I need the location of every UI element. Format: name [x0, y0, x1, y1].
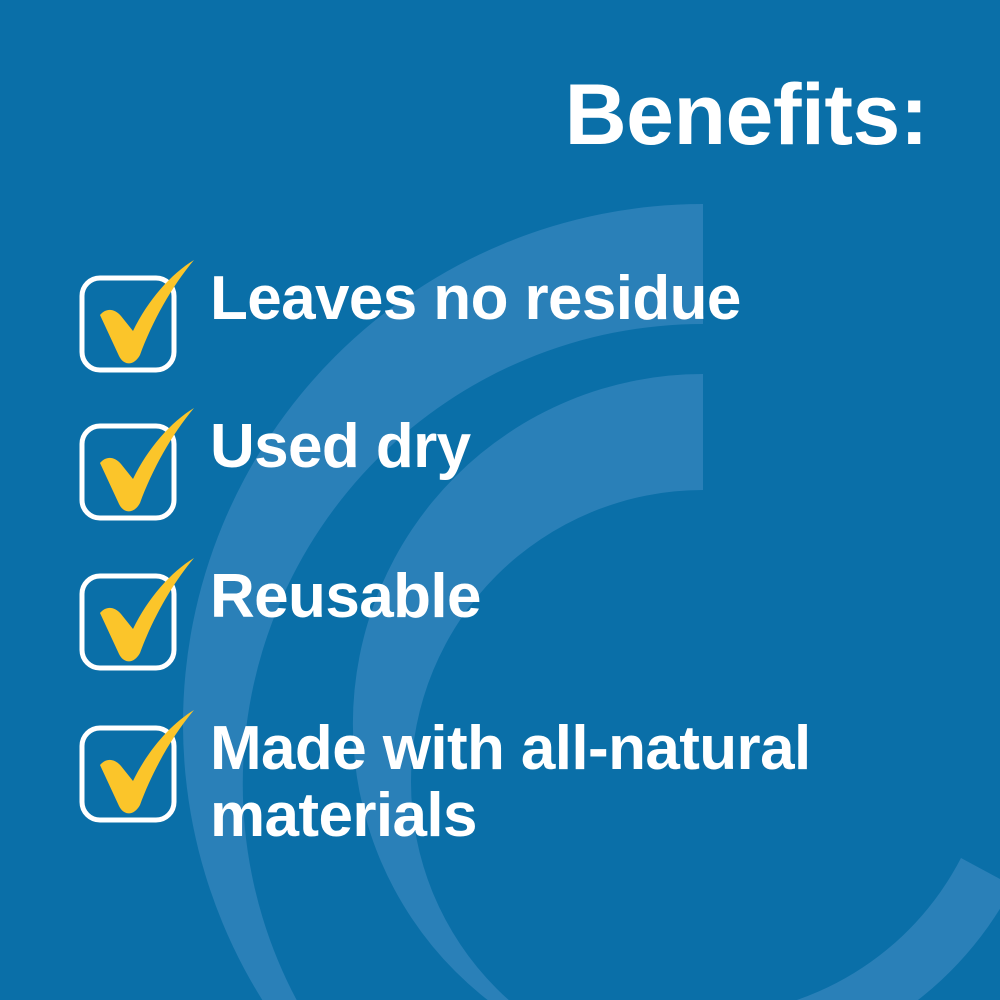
benefits-list: Leaves no residue Used dry Reusable	[76, 258, 956, 850]
list-item-label: Reusable	[180, 556, 956, 631]
checkbox-checked-icon	[76, 708, 202, 826]
list-item-label: Used dry	[180, 406, 956, 481]
checkbox-checked-icon	[76, 258, 202, 376]
checkbox-cell	[76, 406, 180, 516]
benefits-graphic: Benefits: Leaves no residue Used dry	[0, 0, 1000, 1000]
checkbox-cell	[76, 708, 180, 818]
list-item-label: Leaves no residue	[180, 258, 956, 333]
list-item: Used dry	[76, 406, 956, 516]
list-item: Reusable	[76, 556, 956, 666]
checkbox-cell	[76, 258, 180, 368]
page-title: Benefits:	[565, 72, 928, 158]
list-item: Leaves no residue	[76, 258, 956, 368]
checkbox-checked-icon	[76, 406, 202, 524]
checkbox-checked-icon	[76, 556, 202, 674]
list-item: Made with all-natural materials	[76, 708, 956, 850]
checkbox-cell	[76, 556, 180, 666]
title-row: Benefits:	[0, 72, 928, 158]
list-item-label: Made with all-natural materials	[180, 708, 956, 850]
